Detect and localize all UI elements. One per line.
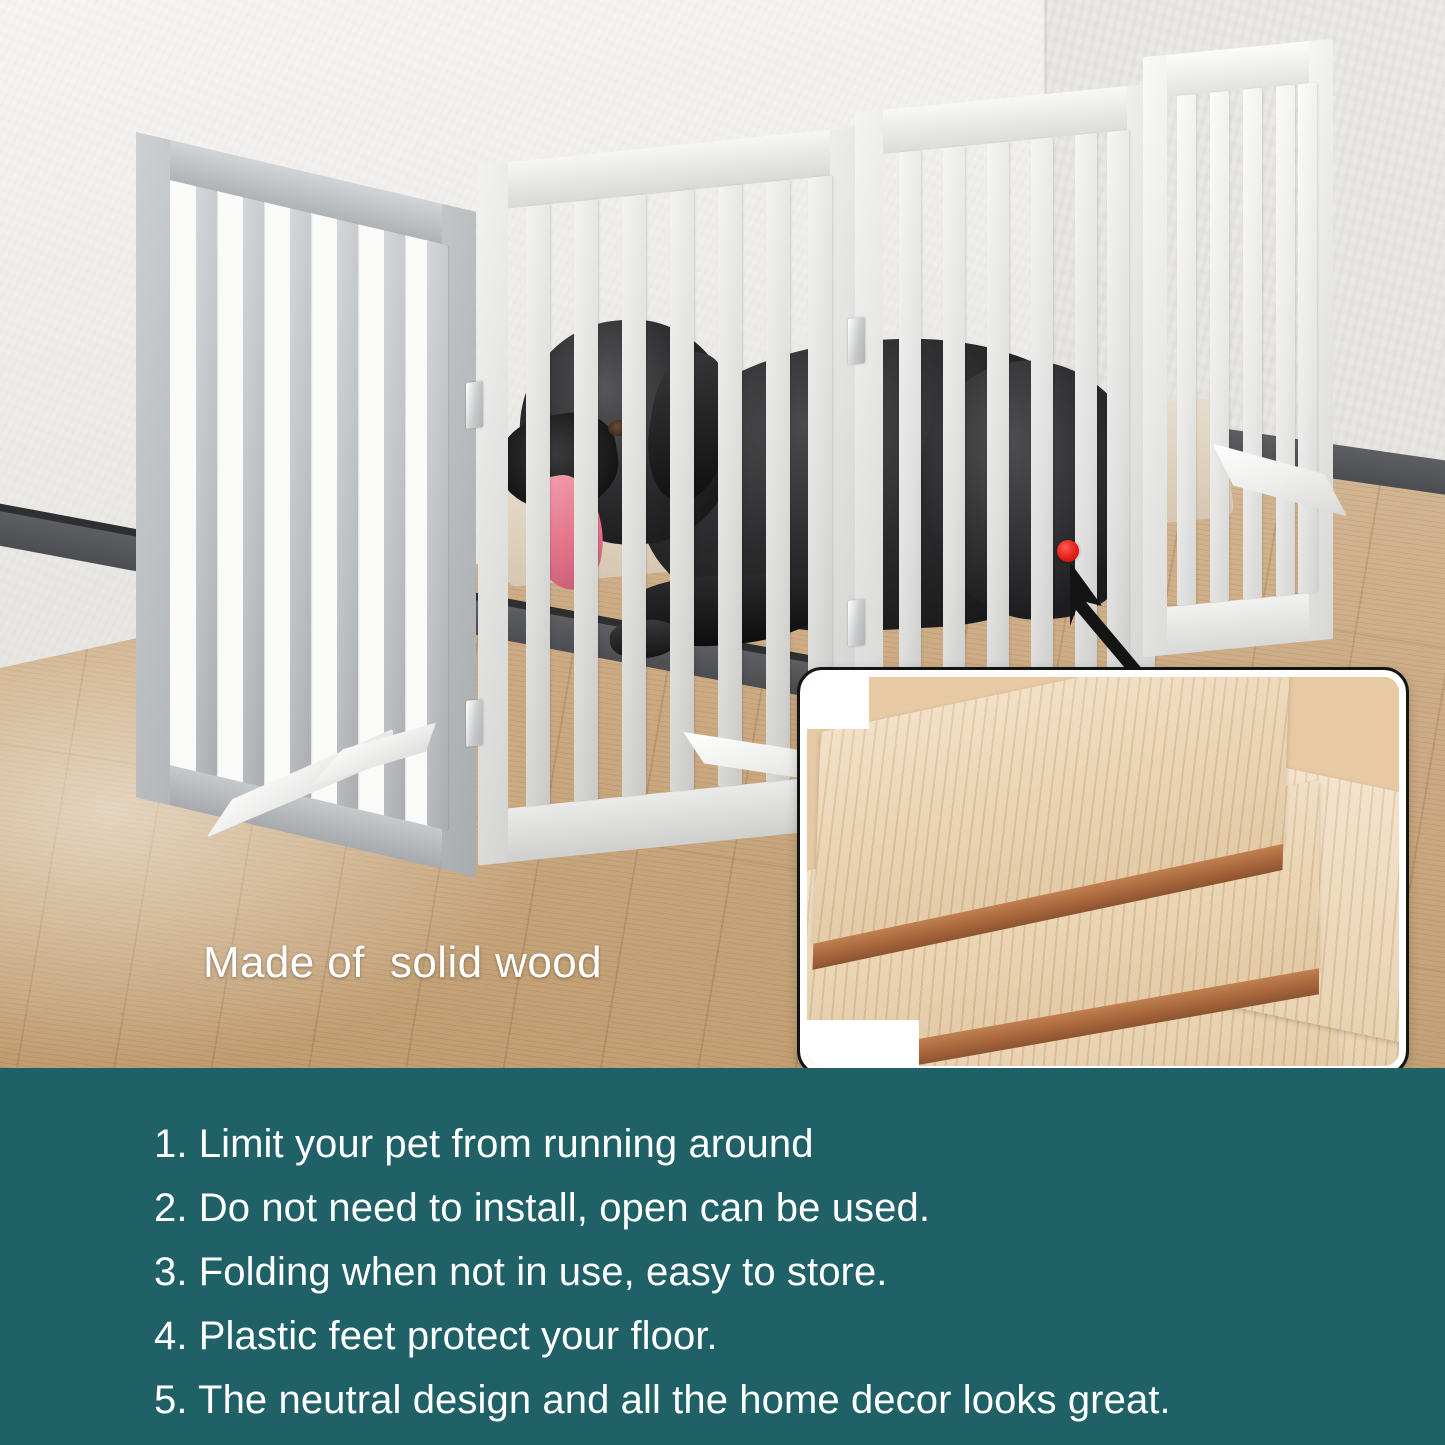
feature-item-1: 1. Limit your pet from running around xyxy=(154,1112,1445,1176)
panel-1-gap xyxy=(358,224,384,815)
panel-2-slat xyxy=(670,189,694,791)
panel-1-gap xyxy=(170,180,196,771)
panel-2-slat xyxy=(526,204,550,806)
panel-4-slat xyxy=(1243,88,1262,600)
gate-hinge xyxy=(848,317,865,365)
panel-1-gap xyxy=(311,213,337,804)
panel-2-slat xyxy=(766,180,790,782)
panel-4-slat xyxy=(1298,82,1317,594)
panel-3-slat xyxy=(987,142,1009,709)
panel-1-gap xyxy=(217,191,243,782)
panel-4-slat xyxy=(1210,91,1229,603)
panel-4-slat xyxy=(1177,94,1196,606)
panel-2-slat xyxy=(718,185,742,787)
gate-panel-1 xyxy=(136,132,476,877)
panel-2-left-stile xyxy=(478,162,508,865)
gate-hinge xyxy=(848,599,865,647)
inset-corner-fill xyxy=(800,670,869,729)
panel-1-left-stile xyxy=(136,132,170,805)
panel-1-gap xyxy=(264,202,290,793)
feature-item-4: 4. Plastic feet protect your floor. xyxy=(154,1304,1445,1368)
panel-1-slat xyxy=(196,186,217,776)
red-dot-marker xyxy=(1057,540,1079,562)
feature-item-3: 3. Folding when not in use, easy to stor… xyxy=(154,1240,1445,1304)
product-marketing-image: Made of solid wood 1. Limit your pet fro… xyxy=(0,0,1445,1445)
panel-1-slat xyxy=(243,197,264,787)
panel-3-slat xyxy=(899,150,921,717)
panel-1-slat xyxy=(290,208,311,798)
gate-hinge xyxy=(466,699,483,747)
panel-4-slat xyxy=(1276,85,1295,597)
feature-list-banner: 1. Limit your pet from running around 2.… xyxy=(0,1068,1445,1445)
panel-2-slat xyxy=(574,199,598,801)
feature-item-5: 5. The neutral design and all the home d… xyxy=(154,1368,1445,1432)
feature-list: 1. Limit your pet from running around 2.… xyxy=(0,1068,1445,1432)
panel-2-top-rail xyxy=(478,127,860,212)
wood-detail-inset xyxy=(800,670,1406,1068)
inset-corner-fill xyxy=(800,1020,919,1068)
panel-1-slat xyxy=(337,219,358,809)
panel-1-slat xyxy=(427,240,448,830)
panel-2-slat xyxy=(622,194,646,796)
made-of-solid-wood-caption: Made of solid wood xyxy=(203,938,602,988)
product-photo: Made of solid wood xyxy=(0,0,1445,1068)
panel-3-slat xyxy=(943,146,965,713)
gate-hinge xyxy=(466,381,483,429)
feature-item-2: 2. Do not need to install, open can be u… xyxy=(154,1176,1445,1240)
